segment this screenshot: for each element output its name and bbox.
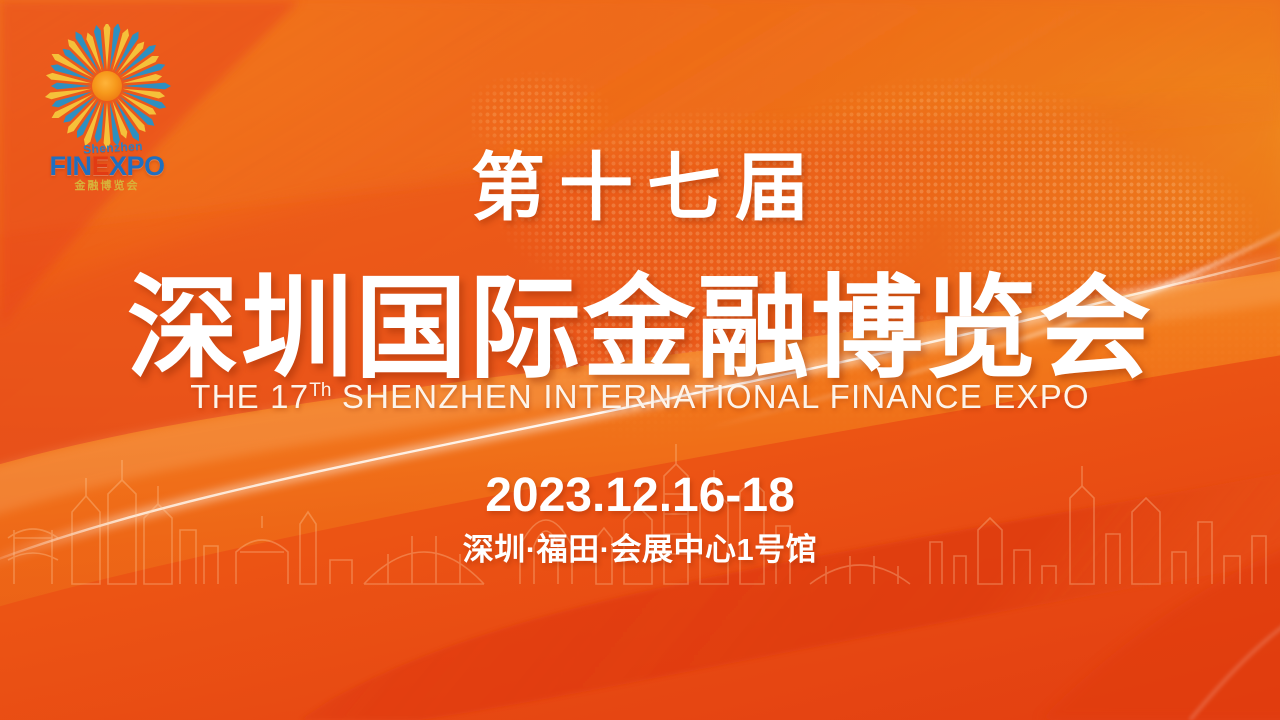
subtitle-rest: SHENZHEN INTERNATIONAL FINANCE EXPO xyxy=(331,378,1089,415)
event-venue: 深圳·福田·会展中心1号馆 xyxy=(0,524,1280,569)
subtitle-prefix: THE 17 xyxy=(190,378,309,415)
event-date: 2023.12.16-18 xyxy=(0,468,1280,523)
edition-kicker: 第十七届 xyxy=(0,128,1280,235)
expo-poster: Shenzhen FINEXPO 金融博览会 第十七届 深圳国际金融博览会 TH… xyxy=(0,0,1280,720)
page-title: 深圳国际金融博览会 xyxy=(0,238,1280,400)
english-subtitle: THE 17Th SHENZHEN INTERNATIONAL FINANCE … xyxy=(0,378,1280,416)
subtitle-ordinal-suffix: Th xyxy=(309,380,331,401)
